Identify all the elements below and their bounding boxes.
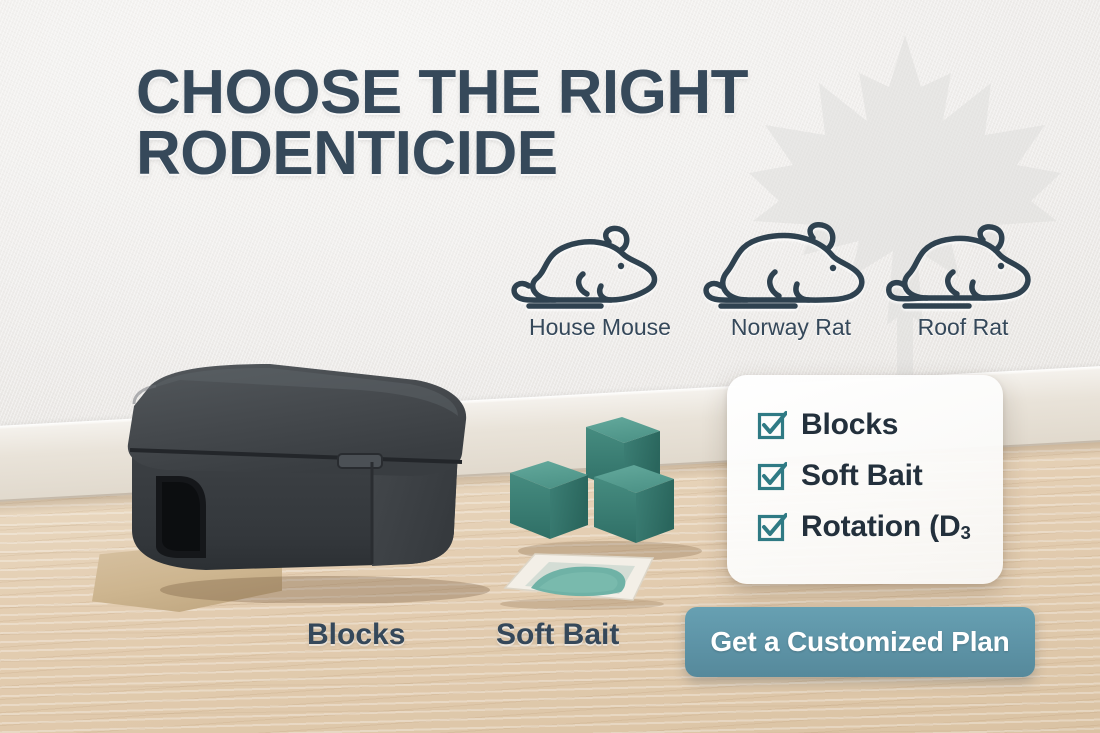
rat-icon	[701, 222, 881, 312]
rodent-label: House Mouse	[505, 314, 695, 341]
checklist-label-subscript: 3	[960, 522, 970, 543]
rodent-house-mouse: House Mouse	[505, 222, 695, 341]
product-label-soft-bait: Soft Bait	[496, 618, 619, 652]
rodent-species-row: House Mouse Norway Rat	[505, 222, 1045, 347]
soft-bait-sachet	[487, 548, 677, 610]
checklist-item-blocks[interactable]: Blocks	[757, 399, 1003, 450]
rat-icon	[883, 222, 1043, 312]
mouse-icon	[505, 222, 695, 312]
headline-line-2: RODENTICIDE	[136, 124, 796, 185]
checklist-label-prefix: Rotation (D	[801, 510, 960, 543]
page-title: CHOOSE THE RIGHT RODENTICIDE	[136, 63, 796, 185]
bait-station-box	[110, 358, 510, 603]
get-customized-plan-button[interactable]: Get a Customized Plan	[685, 607, 1035, 677]
bait-block-right	[594, 465, 674, 543]
poster-canvas: CHOOSE THE RIGHT RODENTICIDE House Mouse	[0, 0, 1100, 733]
checklist-item-rotation[interactable]: Rotation (D3	[757, 501, 1003, 552]
headline-line-1: CHOOSE THE RIGHT	[136, 63, 796, 124]
checkbox-checked-icon[interactable]	[757, 410, 787, 440]
checklist-label: Blocks	[801, 408, 898, 442]
rodent-roof-rat: Roof Rat	[883, 222, 1043, 341]
product-label-blocks: Blocks	[307, 618, 405, 652]
checklist-label: Soft Bait	[801, 459, 923, 493]
checklist-label: Rotation (D3	[801, 510, 971, 544]
checkbox-checked-icon[interactable]	[757, 512, 787, 542]
checklist-card: Blocks Soft Bait Rotation (D3	[727, 375, 1003, 584]
bait-blocks	[500, 415, 715, 560]
rodent-label: Norway Rat	[701, 314, 881, 341]
checklist-item-soft-bait[interactable]: Soft Bait	[757, 450, 1003, 501]
rodent-norway-rat: Norway Rat	[701, 222, 881, 341]
bait-block-left	[510, 461, 588, 539]
checkbox-checked-icon[interactable]	[757, 461, 787, 491]
rodent-label: Roof Rat	[883, 314, 1043, 341]
